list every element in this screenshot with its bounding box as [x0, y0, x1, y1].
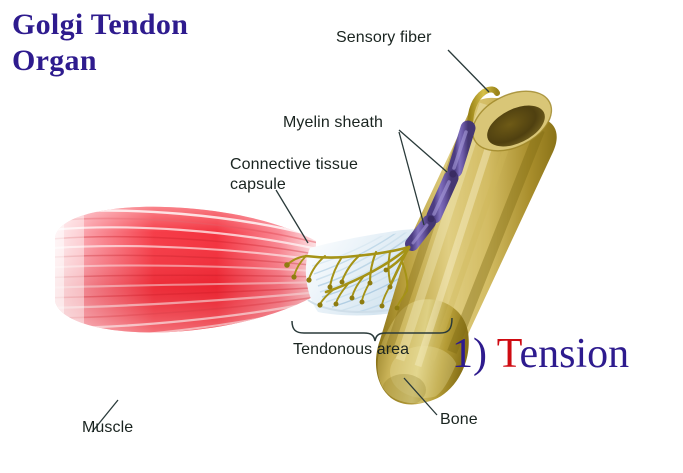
node-of-ranvier: [428, 216, 435, 223]
tension-highlight-letter: T: [497, 331, 520, 377]
node-of-ranvier: [449, 170, 456, 177]
label-tendonous-area: Tendonous area: [293, 340, 409, 360]
leader-sensory-fiber: [448, 50, 489, 92]
muscle-belly: [30, 195, 332, 345]
muscle-fibers: [30, 195, 332, 345]
label-muscle: Muscle: [82, 418, 133, 438]
golgi-tendon-organ-figure: Golgi Tendon Organ Sensory fiber Myelin …: [0, 0, 683, 473]
leader-myelin-lower: [399, 132, 424, 225]
label-myelin-sheath: Myelin sheath: [283, 113, 383, 133]
tension-number: 1): [452, 331, 497, 377]
page-title: Golgi Tendon Organ: [12, 7, 188, 79]
leader-myelin-upper: [399, 130, 447, 172]
tension-rest: ension: [519, 331, 629, 377]
label-connective-tissue-capsule: Connective tissue capsule: [230, 155, 358, 195]
label-bone: Bone: [440, 410, 478, 430]
label-sensory-fiber: Sensory fiber: [336, 28, 432, 48]
tension-callout: 1) Tension: [452, 330, 629, 378]
